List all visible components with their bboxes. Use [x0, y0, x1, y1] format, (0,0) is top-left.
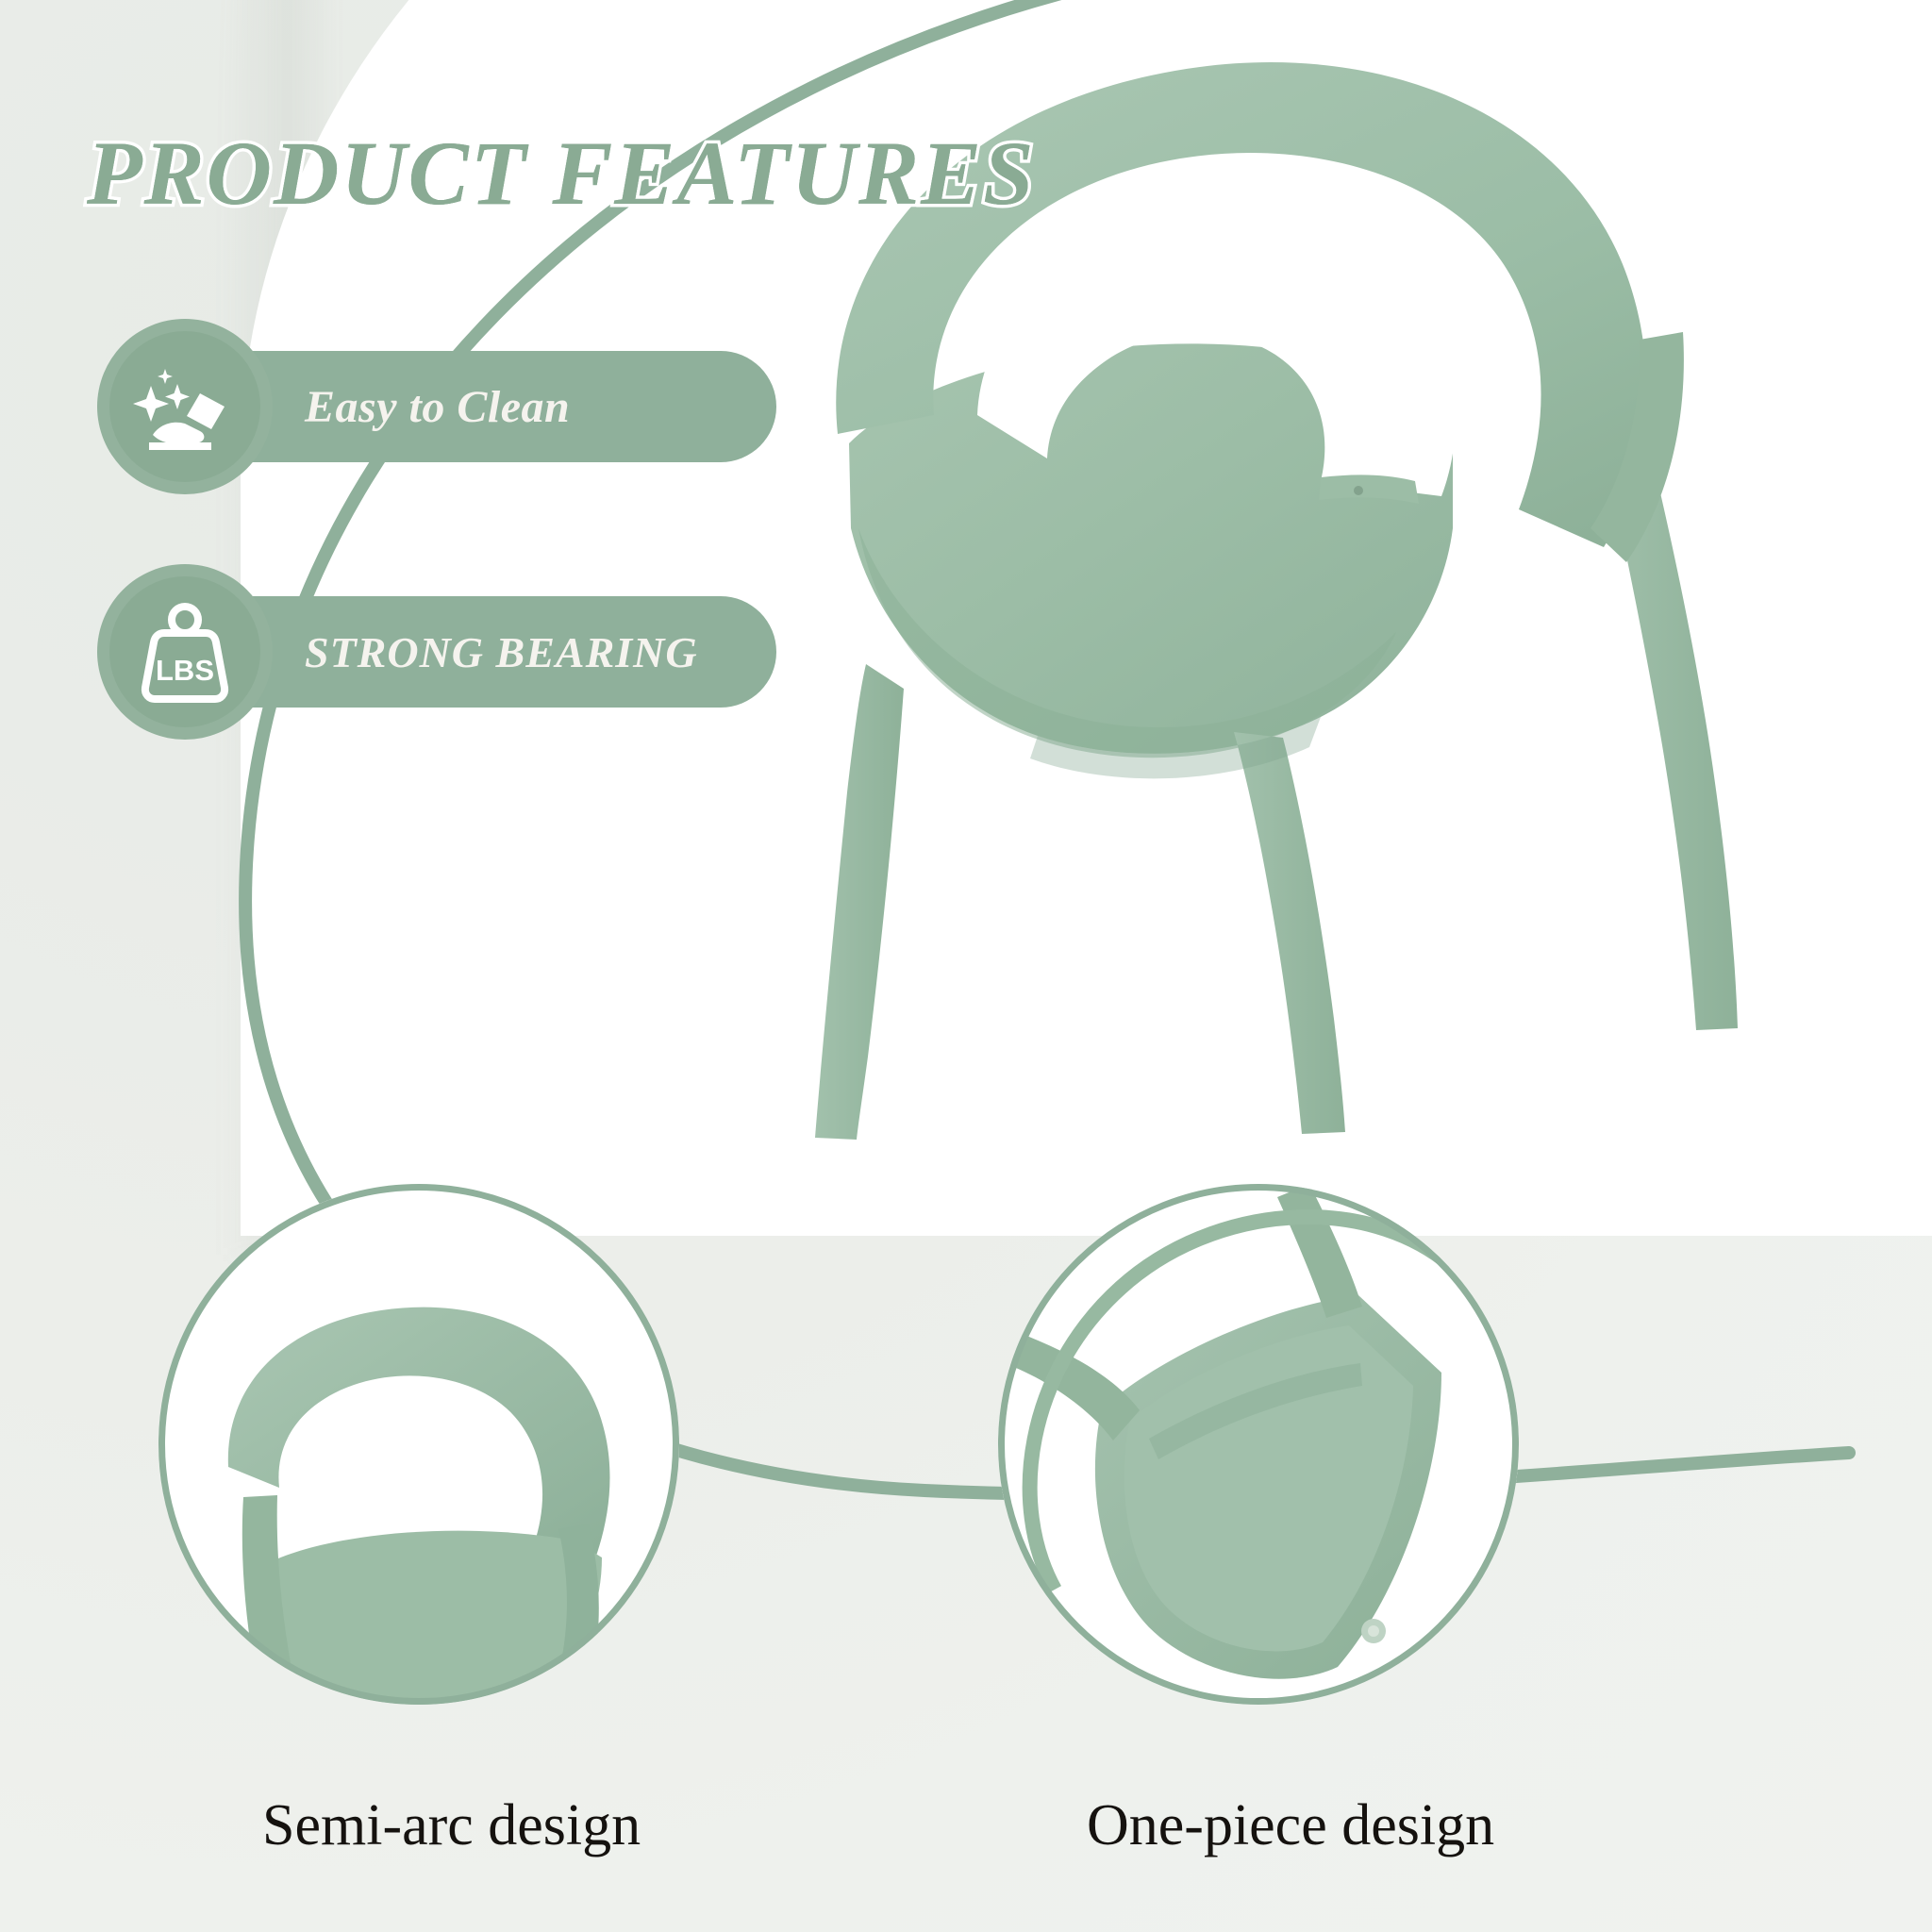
lbs-icon-text: LBS: [156, 654, 214, 687]
feature-strong-bearing[interactable]: LBS STRONG BEARING: [97, 564, 776, 740]
feature-easy-to-clean[interactable]: Easy to Clean: [97, 319, 776, 494]
detail-shot-one-piece[interactable]: [998, 1184, 1519, 1705]
page-title: PRODUCT FEATURES: [87, 121, 1036, 225]
infographic-canvas: Easy to Clean LBS STRONG BEARING: [0, 0, 1932, 1932]
feature-label: STRONG BEARING: [305, 627, 698, 677]
caption-one-piece: One-piece design: [1087, 1792, 1494, 1859]
weight-lbs-icon: LBS: [97, 564, 273, 740]
feature-label: Easy to Clean: [305, 381, 570, 433]
sparkle-wipe-icon: [97, 319, 273, 494]
caption-semi-arc: Semi-arc design: [262, 1792, 641, 1859]
detail-shot-semi-arc[interactable]: [158, 1184, 679, 1705]
